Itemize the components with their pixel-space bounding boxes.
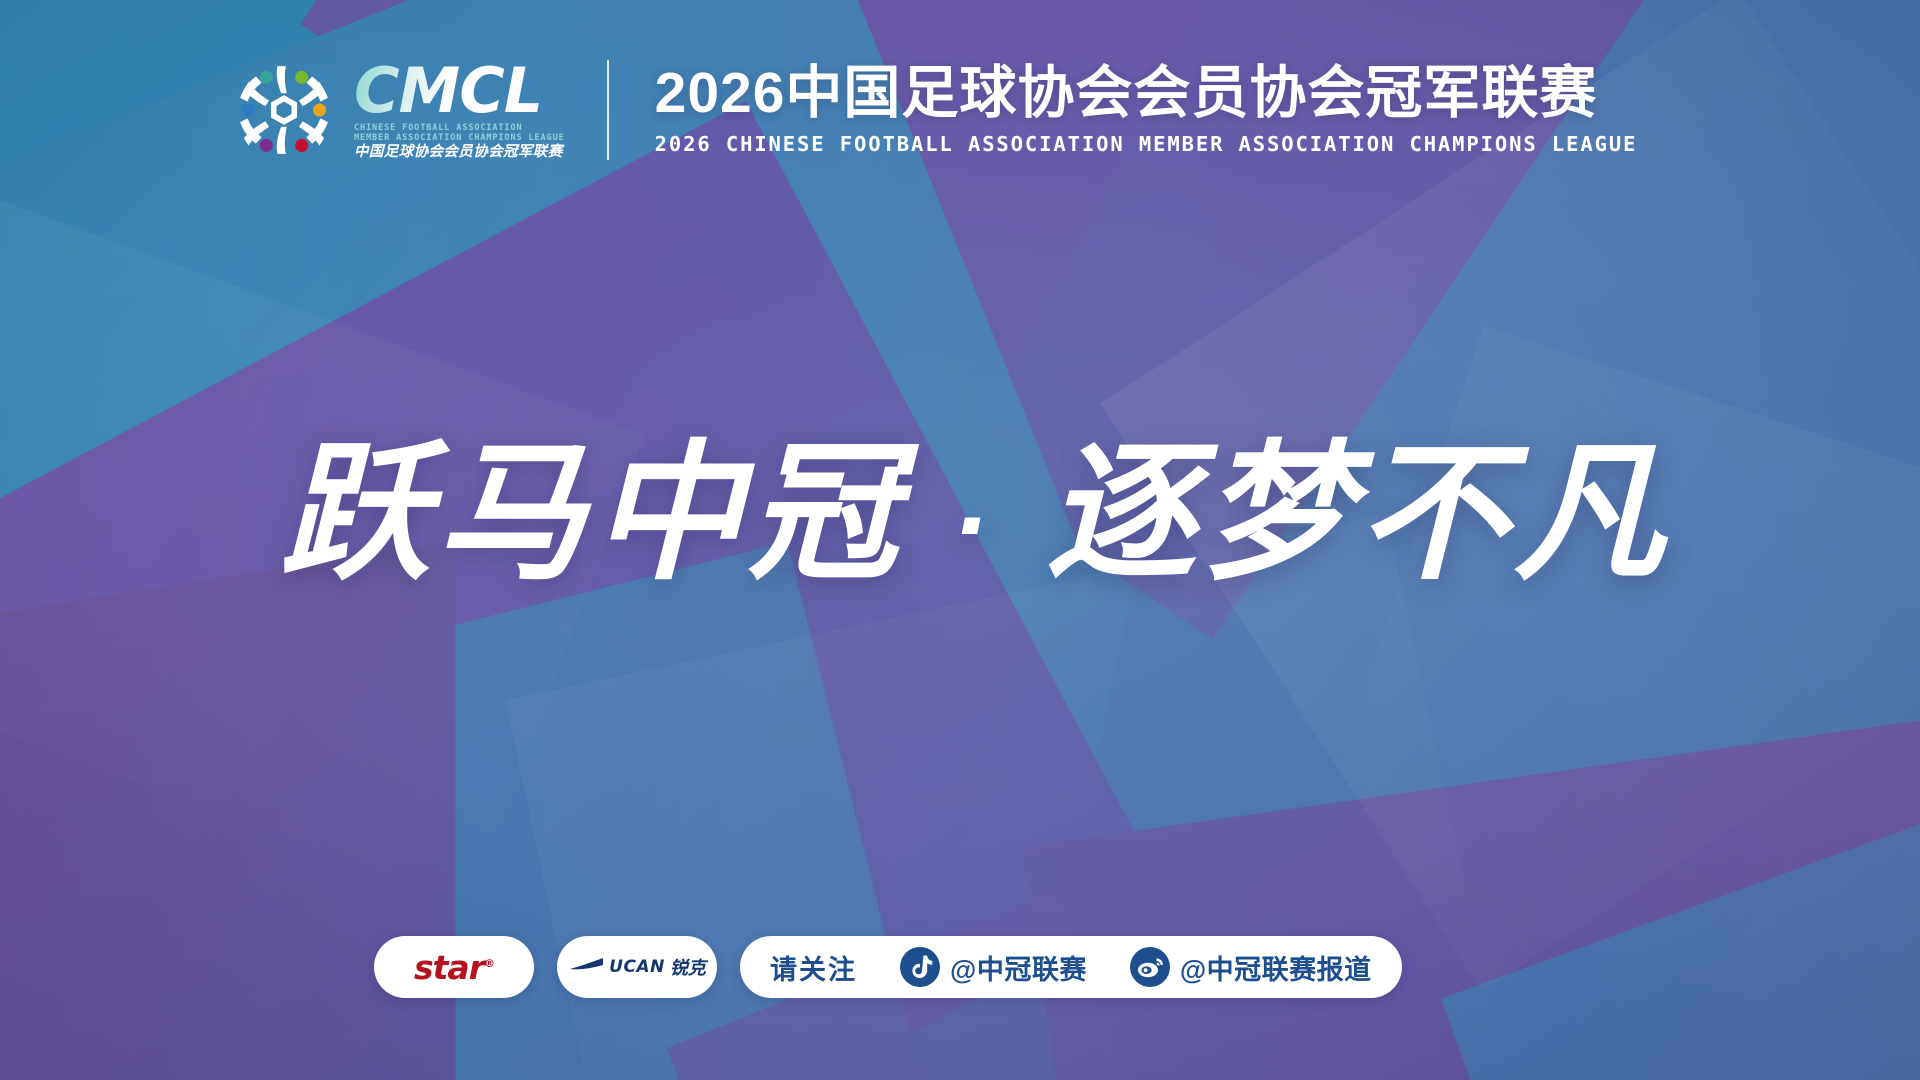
- page-title: 2026中国足球协会会员协会冠军联赛: [655, 64, 1638, 122]
- sponsor-pill-star[interactable]: star®: [374, 936, 534, 998]
- logo-chinese-line: 中国足球协会会员协会冠军联赛: [354, 145, 565, 160]
- ucan-label: UCAN: [609, 957, 665, 977]
- weibo-handle: @中冠联赛报道: [1180, 948, 1372, 987]
- ucan-swoosh-icon: [568, 956, 604, 978]
- douyin-icon: [899, 946, 941, 988]
- ucan-label-cn: 锐克: [670, 954, 706, 980]
- ucan-logo: UCAN 锐克: [568, 954, 706, 980]
- poster-canvas: CMCL CHINESE FOOTBALL ASSOCIATION MEMBER…: [0, 0, 1920, 1080]
- slogan-separator: ·: [952, 463, 999, 586]
- emblem-dot-red: [295, 139, 308, 152]
- header-divider: [607, 60, 609, 160]
- header-title-block: 2026中国足球协会会员协会冠军联赛 2026 CHINESE FOOTBALL…: [655, 64, 1638, 155]
- emblem-dot-purple: [260, 139, 273, 152]
- page-subtitle: 2026 CHINESE FOOTBALL ASSOCIATION MEMBER…: [655, 132, 1638, 156]
- league-logo: CMCL CHINESE FOOTBALL ASSOCIATION MEMBER…: [228, 54, 565, 166]
- logo-wordmark: CMCL: [354, 60, 565, 122]
- cmcl-emblem-icon: [228, 54, 340, 166]
- footer-bar: star® UCAN 锐克 请关注 @中冠联赛: [374, 936, 1402, 998]
- sponsor-pill-ucan[interactable]: UCAN 锐克: [557, 936, 717, 998]
- douyin-handle: @中冠联赛: [950, 948, 1087, 987]
- star-logo: star®: [414, 948, 494, 987]
- slogan-part-1: 跃马中冠: [280, 429, 904, 597]
- emblem-dot-blue: [242, 103, 255, 116]
- emblem-dot-green: [295, 71, 308, 84]
- emblem-dot-orange: [313, 103, 326, 116]
- logo-english-line-2: MEMBER ASSOCIATION CHAMPIONS LEAGUE: [354, 134, 565, 143]
- slogan-part-2: 逐梦不凡: [1046, 429, 1670, 597]
- social-account-weibo[interactable]: @中冠联赛报道: [1129, 946, 1372, 988]
- social-account-douyin[interactable]: @中冠联赛: [899, 946, 1087, 988]
- emblem-dot-teal: [260, 71, 273, 84]
- slogan: 跃马中冠 · 逐梦不凡: [0, 438, 1920, 588]
- star-registered-mark: ®: [484, 957, 494, 970]
- follow-label: 请关注: [770, 948, 857, 987]
- header: CMCL CHINESE FOOTBALL ASSOCIATION MEMBER…: [228, 54, 1637, 166]
- social-pill[interactable]: 请关注 @中冠联赛 @中冠联赛报道: [740, 936, 1402, 998]
- star-logo-label: star: [414, 948, 484, 987]
- logo-english-line-1: CHINESE FOOTBALL ASSOCIATION: [354, 124, 565, 133]
- logo-wordmark-block: CMCL CHINESE FOOTBALL ASSOCIATION MEMBER…: [354, 60, 565, 160]
- weibo-icon: [1129, 946, 1171, 988]
